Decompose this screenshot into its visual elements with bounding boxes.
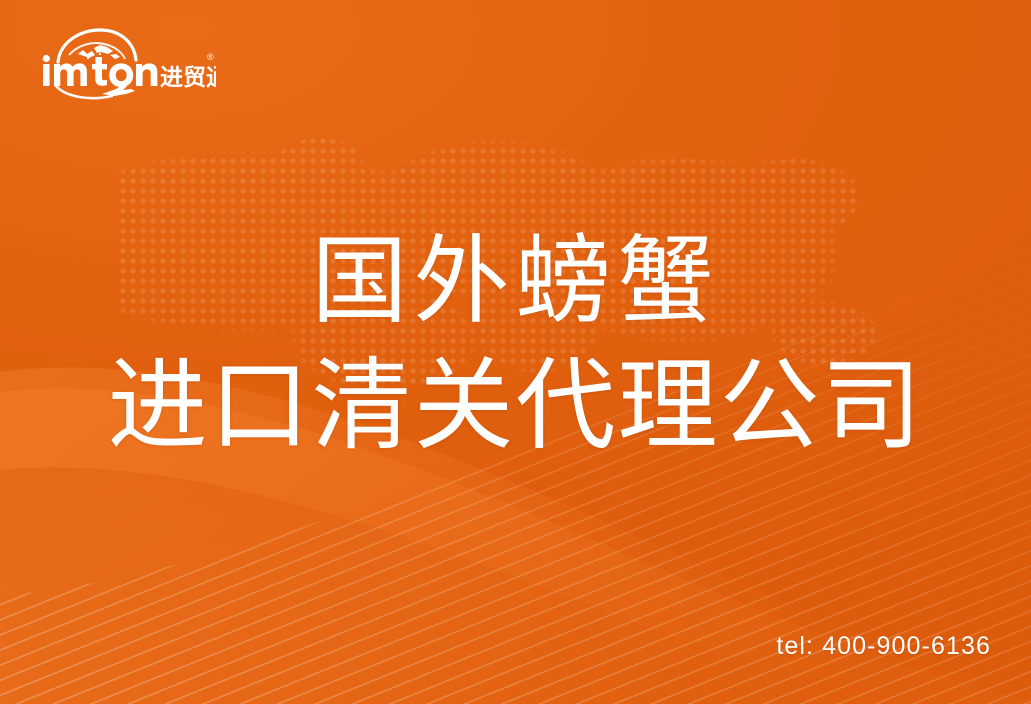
headline-line-1: 国外螃蟹 [0, 228, 1031, 336]
contact-phone[interactable]: tel: 400-900-6136 [776, 632, 991, 661]
brand-logo[interactable]: 进贸通 ® [36, 28, 216, 100]
promo-banner: 进贸通 ® 国外螃蟹 进口清关代理公司 tel: 400-900-6136 [0, 0, 1031, 704]
page-title: 国外螃蟹 进口清关代理公司 [0, 228, 1031, 462]
swoosh-icon [56, 85, 135, 98]
logo-chinese-name: 进贸通 [160, 65, 216, 91]
registered-trademark-icon: ® [207, 52, 214, 62]
headline-line-2: 进口清关代理公司 [0, 350, 1031, 462]
